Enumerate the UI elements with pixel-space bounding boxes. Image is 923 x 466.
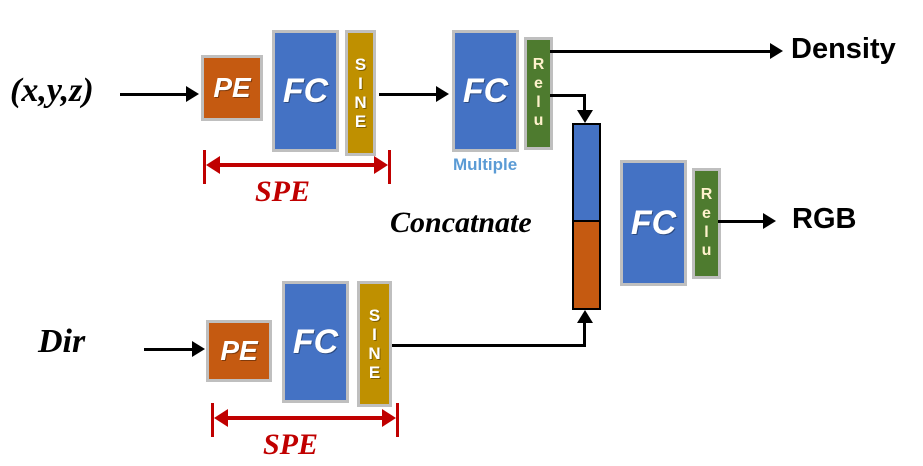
arrow-relu-to-rgb-head <box>763 213 776 229</box>
arrow-position-to-pe-head <box>186 86 199 102</box>
block-relu-rgb[interactable]: R e l u <box>692 168 721 279</box>
arrow-direction-to-concat-vline <box>583 322 586 347</box>
spe-top-label: SPE <box>255 175 310 209</box>
block-fc-rgb-label: FC <box>631 204 676 243</box>
sine-dir-letter-n: N <box>368 344 380 363</box>
sine-letter-s: S <box>355 55 366 74</box>
block-fc-direction-label: FC <box>293 323 338 362</box>
relu-letter-u: u <box>534 112 544 131</box>
block-pe-direction-label: PE <box>220 335 257 367</box>
arrow-relu-to-rgb-line <box>718 220 765 223</box>
sine-dir-letter-i: I <box>372 325 377 344</box>
arrow-direction-to-concat-hline <box>392 344 586 347</box>
block-fc-direction[interactable]: FC <box>282 281 349 403</box>
concatenate-label: Concatnate <box>390 206 532 240</box>
relu-rgb-letter-u: u <box>702 242 712 261</box>
block-fc-rgb[interactable]: FC <box>620 160 687 286</box>
spe-top-tick-right <box>388 150 391 184</box>
block-fc-position-label: FC <box>283 72 328 111</box>
arrow-sine-to-fc-head <box>436 86 449 102</box>
relu-letter-l: l <box>536 94 540 113</box>
block-fc-position[interactable]: FC <box>272 30 339 152</box>
sine-letter-e: E <box>355 112 366 131</box>
block-pe-direction[interactable]: PE <box>206 320 272 382</box>
block-sine-direction[interactable]: S I N E <box>357 281 392 407</box>
spe-bottom-arrow-right <box>382 409 396 427</box>
input-label-direction: Dir <box>38 323 85 361</box>
arrow-direction-to-pe-line <box>144 348 196 351</box>
arrow-relu-to-density-head <box>770 43 783 59</box>
spe-bottom-label: SPE <box>263 428 318 462</box>
sine-letter-n: N <box>354 93 366 112</box>
arrow-sine-to-fc-line <box>379 93 437 96</box>
multiple-label: Multiple <box>453 155 517 175</box>
input-label-position: (x,y,z) <box>10 72 94 110</box>
sine-dir-letter-e: E <box>369 363 380 382</box>
arrow-direction-to-concat-head <box>577 310 593 323</box>
output-label-rgb: RGB <box>792 203 856 236</box>
relu-letter-r: R <box>533 56 545 75</box>
relu-rgb-letter-e: e <box>702 205 711 224</box>
relu-rgb-letter-r: R <box>701 186 713 205</box>
branch-relu-to-concat-head <box>577 110 593 123</box>
output-label-density: Density <box>791 33 896 66</box>
branch-relu-to-concat-hline <box>550 94 586 97</box>
spe-top-arrow-right <box>374 156 388 174</box>
relu-letter-e: e <box>534 75 543 94</box>
block-fc-multiple[interactable]: FC <box>452 30 519 152</box>
concat-segment-position <box>574 125 599 220</box>
spe-top-measure-line <box>216 163 378 167</box>
block-relu-density[interactable]: R e l u <box>524 37 553 150</box>
relu-rgb-letter-l: l <box>704 224 708 243</box>
arrow-relu-to-density-line <box>550 50 773 53</box>
diagram-canvas: (x,y,z) PE FC S I N E SPE FC R e l u Mul… <box>0 0 923 466</box>
spe-bottom-arrow-left <box>214 409 228 427</box>
sine-letter-i: I <box>358 74 363 93</box>
block-fc-multiple-label: FC <box>463 72 508 111</box>
spe-bottom-measure-line <box>224 416 386 420</box>
concat-segment-direction <box>574 220 599 308</box>
sine-dir-letter-s: S <box>369 306 380 325</box>
block-sine-position[interactable]: S I N E <box>345 30 376 156</box>
spe-bottom-tick-right <box>396 403 399 437</box>
spe-top-arrow-left <box>206 156 220 174</box>
arrow-direction-to-pe-head <box>192 341 205 357</box>
block-pe-position-label: PE <box>213 72 250 104</box>
concatenate-bar[interactable] <box>572 123 601 310</box>
block-pe-position[interactable]: PE <box>201 55 263 121</box>
arrow-position-to-pe-line <box>120 93 188 96</box>
